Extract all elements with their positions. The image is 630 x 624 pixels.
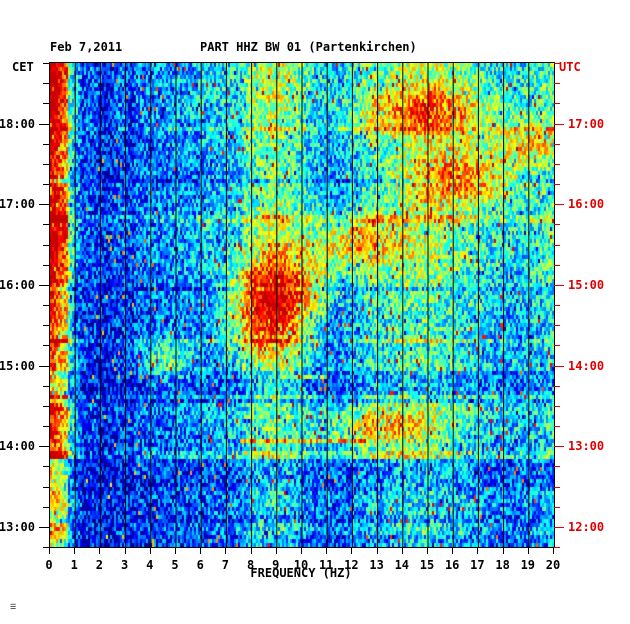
utc-tick-label: 15:00 <box>568 278 604 292</box>
frequency-tick-label: 7 <box>222 558 229 572</box>
frequency-tick-label: 1 <box>71 558 78 572</box>
frequency-tick <box>528 547 529 554</box>
utc-tick-label: 13:00 <box>568 439 604 453</box>
frequency-tick <box>150 547 151 554</box>
frequency-tick <box>74 547 75 554</box>
spectrogram-canvas <box>50 63 554 547</box>
utc-time-axis: 17:0016:0015:0014:0013:0012:00 <box>554 62 630 548</box>
utc-tick-label: 14:00 <box>568 359 604 373</box>
frequency-tick-label: 18 <box>495 558 509 572</box>
cet-tick-label: 13:00 <box>0 520 35 534</box>
frequency-tick <box>553 547 554 554</box>
cet-tick-label: 18:00 <box>0 117 35 131</box>
frequency-tick <box>503 547 504 554</box>
spectrogram-plot <box>49 62 555 548</box>
frequency-tick-label: 13 <box>369 558 383 572</box>
frequency-tick <box>452 547 453 554</box>
cet-tick-label: 16:00 <box>0 278 35 292</box>
cet-tick-label: 17:00 <box>0 197 35 211</box>
frequency-tick <box>477 547 478 554</box>
frequency-tick <box>326 547 327 554</box>
frequency-tick-label: 20 <box>546 558 560 572</box>
frequency-tick-label: 3 <box>121 558 128 572</box>
corner-artifact-glyph: ☰ <box>10 603 16 611</box>
frequency-tick-label: 16 <box>445 558 459 572</box>
frequency-tick-label: 15 <box>420 558 434 572</box>
x-axis-title: FREQUENCY (HZ) <box>250 566 351 580</box>
utc-tick-label: 12:00 <box>568 520 604 534</box>
frequency-tick <box>276 547 277 554</box>
frequency-tick <box>351 547 352 554</box>
frequency-tick <box>402 547 403 554</box>
station-title: PART HHZ BW 01 (Partenkirchen) <box>200 40 417 54</box>
frequency-tick <box>125 547 126 554</box>
frequency-tick <box>301 547 302 554</box>
frequency-tick <box>427 547 428 554</box>
frequency-tick <box>49 547 50 554</box>
utc-tick-label: 16:00 <box>568 197 604 211</box>
frequency-tick <box>377 547 378 554</box>
frequency-tick-label: 4 <box>146 558 153 572</box>
frequency-tick-label: 6 <box>197 558 204 572</box>
utc-tick-label: 17:00 <box>568 117 604 131</box>
frequency-tick-label: 14 <box>395 558 409 572</box>
cet-time-axis: 18:0017:0016:0015:0014:0013:00 <box>0 62 49 548</box>
frequency-tick <box>225 547 226 554</box>
frequency-tick-label: 2 <box>96 558 103 572</box>
frequency-tick-label: 0 <box>45 558 52 572</box>
spectrogram-page: Feb 7,2011 PART HHZ BW 01 (Partenkirchen… <box>0 0 630 624</box>
frequency-tick <box>251 547 252 554</box>
frequency-tick-label: 19 <box>521 558 535 572</box>
date-title: Feb 7,2011 <box>50 40 122 54</box>
frequency-tick <box>175 547 176 554</box>
frequency-tick <box>99 547 100 554</box>
frequency-tick-label: 17 <box>470 558 484 572</box>
cet-tick-label: 14:00 <box>0 439 35 453</box>
cet-tick-label: 15:00 <box>0 359 35 373</box>
frequency-tick <box>200 547 201 554</box>
frequency-tick-label: 5 <box>171 558 178 572</box>
